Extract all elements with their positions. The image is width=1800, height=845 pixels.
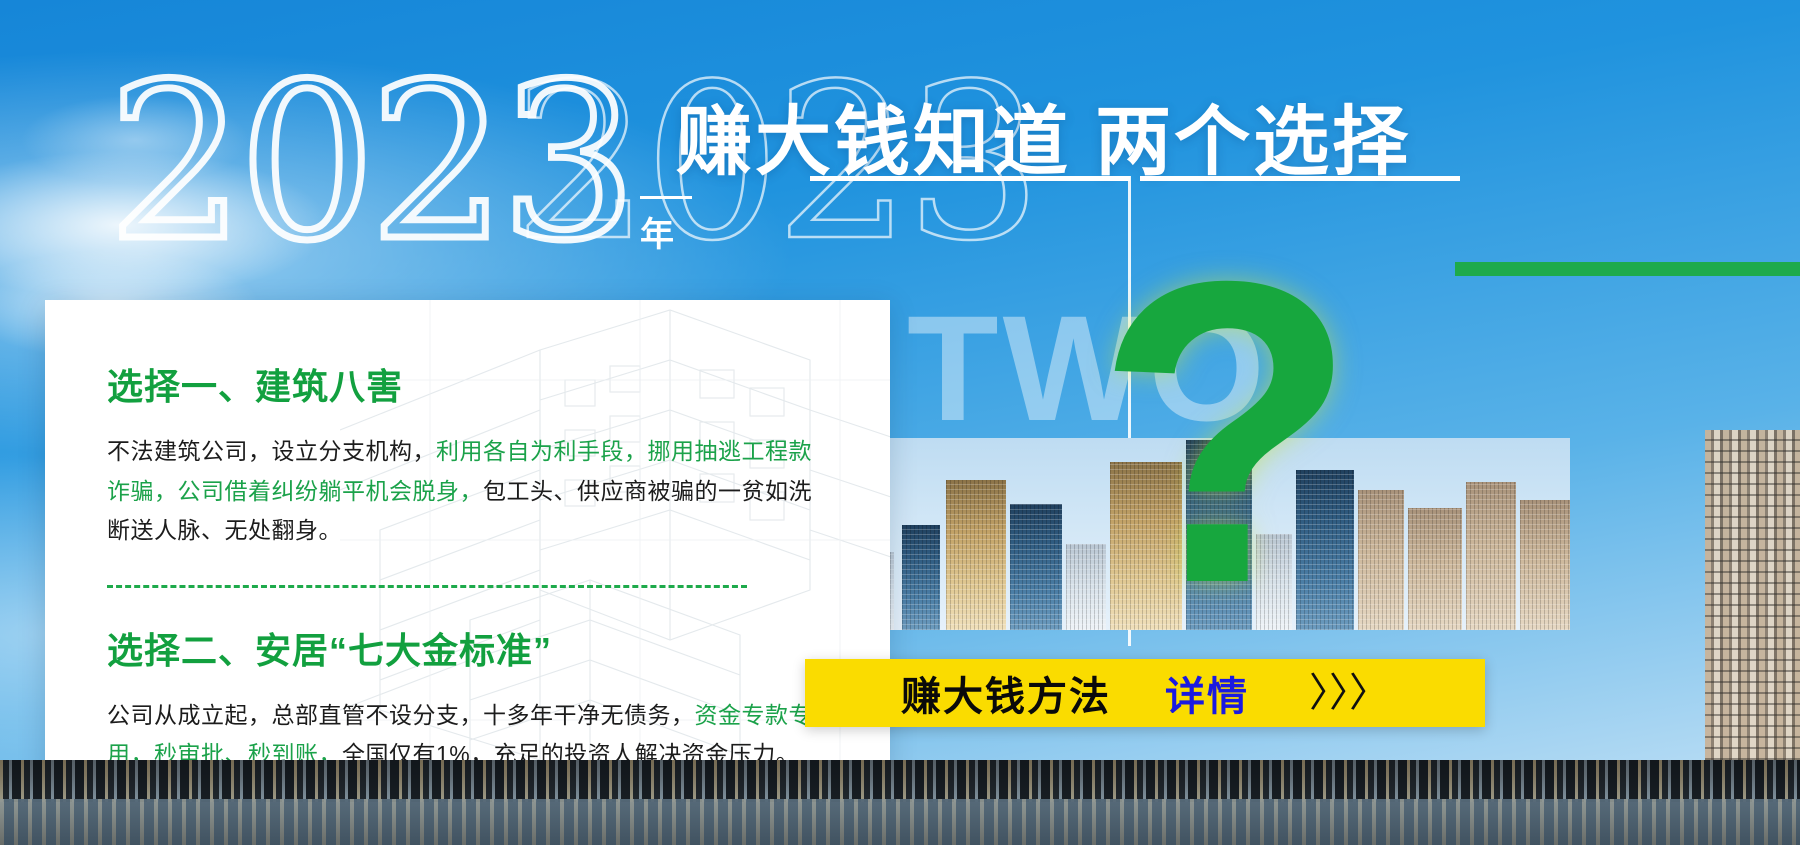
panel-content: 选择一、建筑八害 不法建筑公司，设立分支机构，利用各自为利手段，挪用抽逃工程款诈… <box>45 300 890 800</box>
chevron-glyphs: 〉〉〉 <box>1309 673 1389 713</box>
cta-main-label: 赚大钱方法 <box>901 664 1111 722</box>
year-suffix-label: 年 <box>640 216 675 254</box>
building <box>1466 482 1516 630</box>
section-one-title: 选择一、建筑八害 <box>107 358 832 410</box>
section-one-body: 不法建筑公司，设立分支机构，利用各自为利手段，挪用抽逃工程款诈骗，公司借着纠纷躺… <box>107 432 832 551</box>
cta-bar[interactable]: 赚大钱方法 详情 〉〉〉 <box>805 659 1485 727</box>
question-mark-icon: ? <box>1095 218 1358 648</box>
header-rule-right <box>1140 176 1460 181</box>
cta-details-link[interactable]: 详情 <box>1165 664 1249 722</box>
year-suffix-rule <box>640 196 692 199</box>
section-one-text-a: 不法建筑公司，设立分支机构， <box>107 438 436 464</box>
page-title: 赚大钱知道 两个选择 <box>676 80 1411 190</box>
building <box>1358 490 1404 630</box>
section-divider <box>107 585 747 588</box>
poster-root: 2023 2023 年 赚大钱知道 两个选择 TWO choices <box>0 0 1800 845</box>
year-suffix: 年 <box>640 196 692 256</box>
building <box>902 525 940 630</box>
section-two-title: 选择二、安居“七大金标准” <box>107 622 832 674</box>
green-accent-bar-2 <box>1690 262 1800 276</box>
section-one: 选择一、建筑八害 不法建筑公司，设立分支机构，利用各自为利手段，挪用抽逃工程款诈… <box>107 358 832 551</box>
building <box>1408 508 1462 630</box>
chevron-right-icon: 〉〉〉 <box>1309 673 1389 713</box>
bottom-city-strip <box>0 760 1800 845</box>
building <box>946 480 1006 630</box>
right-edge-building <box>1705 430 1800 760</box>
section-two-text-a: 公司从成立起，总部直管不设分支，十多年干净无债务， <box>107 702 695 728</box>
content-panel: 选择一、建筑八害 不法建筑公司，设立分支机构，利用各自为利手段，挪用抽逃工程款诈… <box>45 300 890 800</box>
building <box>1520 500 1570 630</box>
header-rule-left <box>810 176 1130 181</box>
building <box>1010 504 1062 630</box>
